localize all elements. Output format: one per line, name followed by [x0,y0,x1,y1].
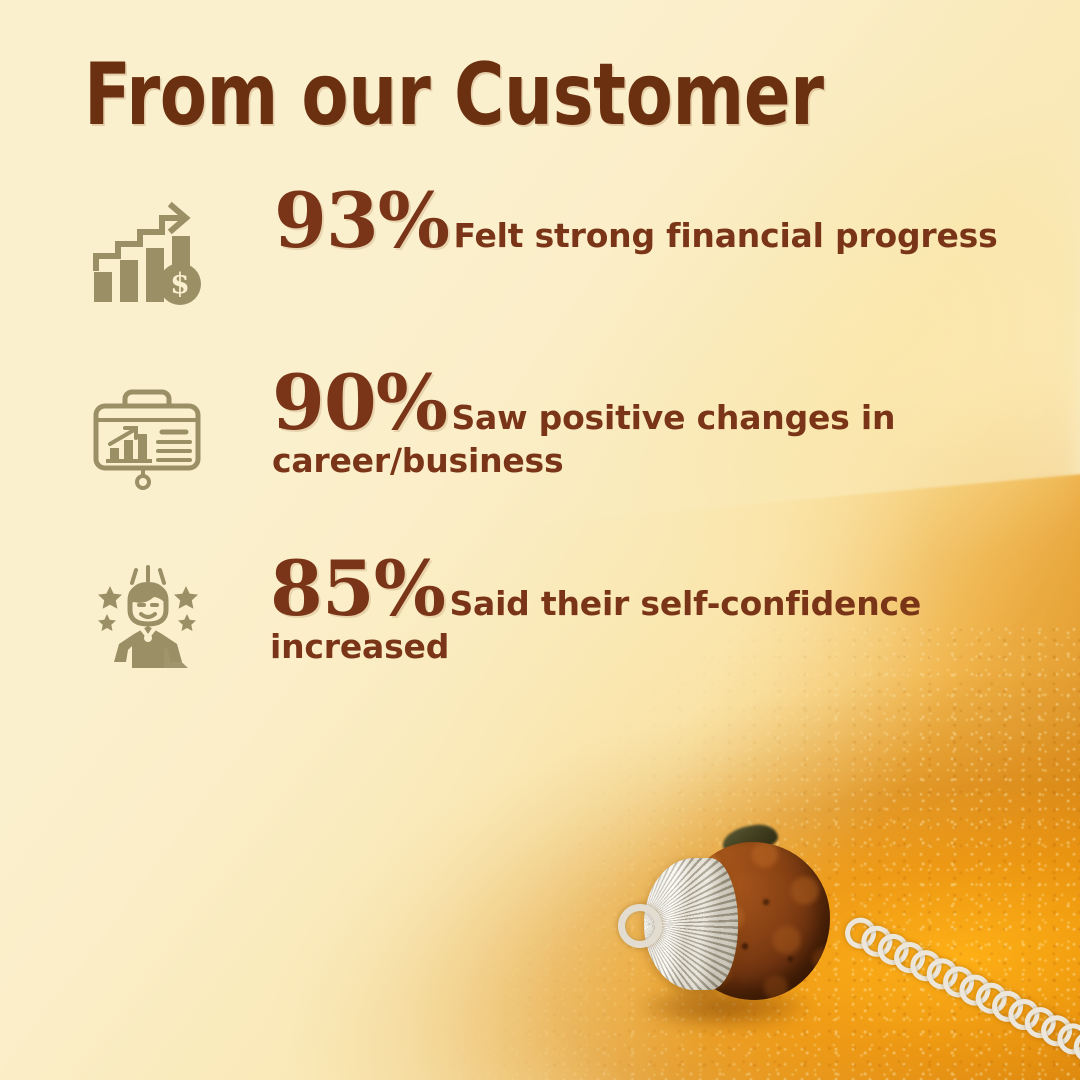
stat-item: $ 93% Felt strong financial progress [0,186,1000,354]
stat-percent: 93% [274,176,449,265]
stats-list: $ 93% Felt strong financial progress [0,186,1000,722]
page-title: From our Customer [84,52,824,138]
growth-bar-chart-dollar-icon: $ [88,196,206,308]
stat-text: 85% Said their self-confidence increased [270,554,1000,669]
confident-person-stars-icon [88,564,206,676]
promo-card: From our Customer $ [0,0,1080,1080]
presentation-board-chart-icon [88,378,206,490]
stat-percent: 90% [272,358,447,447]
silver-chain [824,908,1080,1079]
stat-label: Felt strong financial progress [453,216,997,255]
stat-text: 90% Saw positive changes in career/busin… [272,368,1000,483]
rudraksha-pendant [600,820,1080,1080]
stat-item: 90% Saw positive changes in career/busin… [0,368,1000,536]
stat-item: 85% Said their self-confidence increased [0,554,1000,722]
svg-text:$: $ [170,267,189,300]
stat-text: 93% Felt strong financial progress [274,186,1000,258]
stat-percent: 85% [270,544,445,633]
